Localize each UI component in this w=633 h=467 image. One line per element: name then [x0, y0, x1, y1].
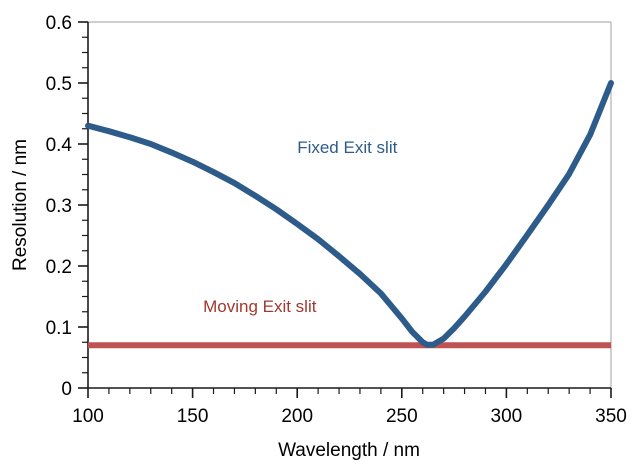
- x-axis-title: Wavelength / nm: [278, 440, 420, 461]
- y-tick-label: 0.4: [46, 135, 73, 156]
- chart-page: 0.6 0.5 0.4 0.3 0.2 0.1 0 100 150 200 25…: [0, 0, 633, 467]
- x-tick-label: 250: [386, 406, 418, 427]
- y-tick-label: 0.6: [46, 13, 72, 34]
- fixed-exit-slit-label: Fixed Exit slit: [297, 138, 397, 157]
- y-axis-title: Resolution / nm: [10, 139, 31, 271]
- y-tick-label: 0: [61, 379, 72, 400]
- y-tick-label: 0.3: [46, 196, 72, 217]
- resolution-vs-wavelength-chart: 0.6 0.5 0.4 0.3 0.2 0.1 0 100 150 200 25…: [0, 0, 633, 467]
- x-tick-label: 100: [72, 406, 104, 427]
- y-tick-label: 0.5: [46, 74, 72, 95]
- x-tick-label: 350: [595, 406, 627, 427]
- moving-exit-slit-label: Moving Exit slit: [203, 297, 317, 316]
- y-tick-label: 0.1: [46, 318, 72, 339]
- y-tick-label: 0.2: [46, 257, 72, 278]
- x-tick-label: 300: [491, 406, 523, 427]
- x-tick-label: 150: [177, 406, 209, 427]
- chart-background: [0, 0, 633, 467]
- x-tick-label: 200: [281, 406, 313, 427]
